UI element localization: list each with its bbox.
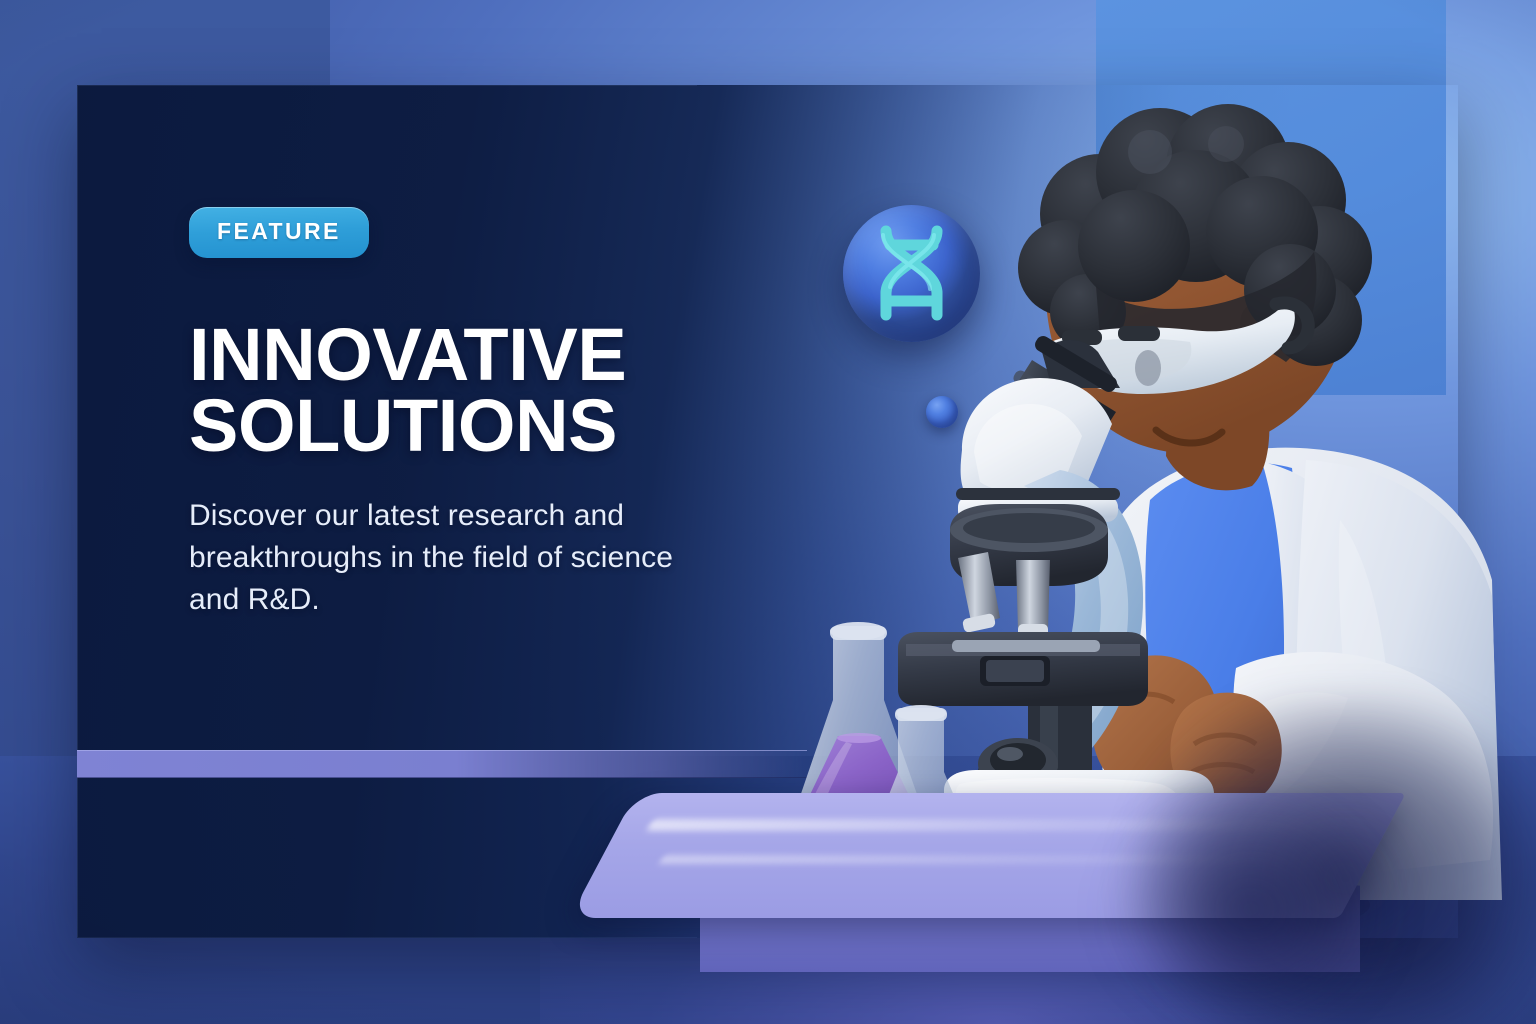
- banner-description: Discover our latest research and breakth…: [189, 495, 689, 621]
- banner-text-block: FEATURE INNOVATIVE SOLUTIONS Discover ou…: [189, 207, 709, 621]
- page-title: INNOVATIVE SOLUTIONS: [189, 320, 709, 461]
- banner-stage: FEATURE INNOVATIVE SOLUTIONS Discover ou…: [0, 0, 1536, 1024]
- feature-badge[interactable]: FEATURE: [189, 207, 369, 258]
